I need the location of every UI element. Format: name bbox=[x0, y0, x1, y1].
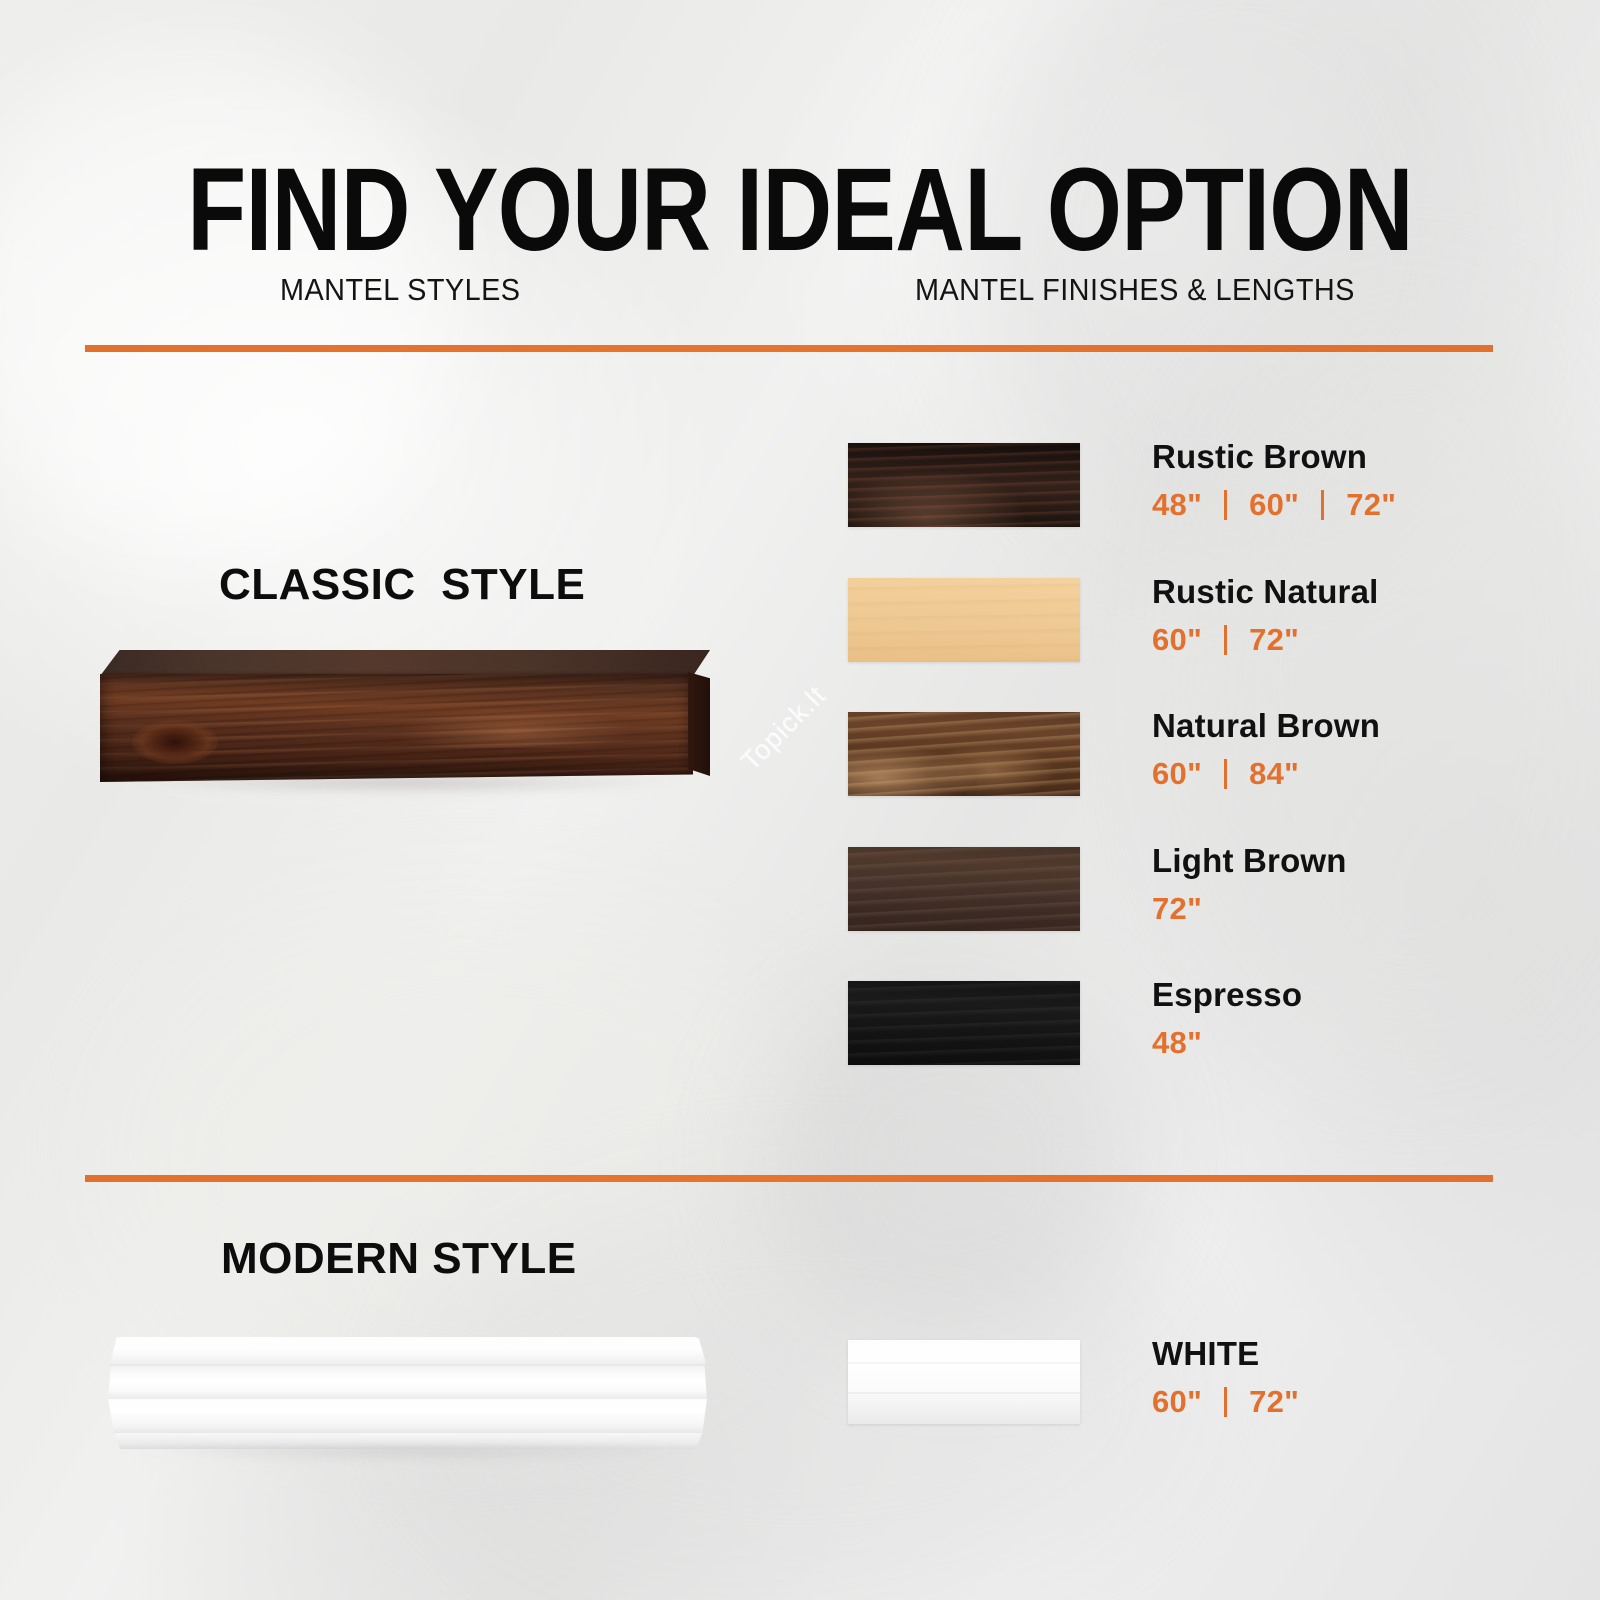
size-option[interactable]: 60" bbox=[1152, 622, 1202, 658]
finish-sizes: 60" 72" bbox=[1152, 622, 1492, 658]
molding-band-top bbox=[107, 1337, 707, 1367]
beam-end-cap bbox=[688, 672, 710, 776]
finish-row[interactable]: Light Brown 72" bbox=[848, 847, 1488, 951]
finish-name: Rustic Natural bbox=[1152, 574, 1492, 610]
product-shadow bbox=[137, 1447, 677, 1461]
finish-name: Natural Brown bbox=[1152, 708, 1492, 744]
divider-top bbox=[85, 345, 1493, 352]
swatch-texture bbox=[848, 981, 1080, 1065]
swatch-texture bbox=[848, 578, 1080, 662]
beam-front-face bbox=[100, 674, 693, 782]
finish-swatch-rustic-brown[interactable] bbox=[848, 443, 1080, 527]
size-separator bbox=[1224, 759, 1227, 789]
wood-knot bbox=[132, 720, 218, 764]
size-option[interactable]: 72" bbox=[1249, 1384, 1299, 1420]
size-separator bbox=[1224, 490, 1227, 520]
finish-details: Rustic Brown 48" 60" 72" bbox=[1152, 439, 1492, 523]
finish-name: WHITE bbox=[1152, 1336, 1492, 1372]
beam-top-face bbox=[100, 650, 710, 676]
finish-swatch-natural-brown[interactable] bbox=[848, 712, 1080, 796]
finish-sizes: 60" 84" bbox=[1152, 756, 1492, 792]
finish-details: Light Brown 72" bbox=[1152, 843, 1492, 927]
size-option[interactable]: 60" bbox=[1152, 756, 1202, 792]
finish-swatch-white[interactable] bbox=[848, 1340, 1080, 1424]
divider-middle bbox=[85, 1175, 1493, 1182]
size-separator bbox=[1321, 490, 1324, 520]
finish-details: Natural Brown 60" 84" bbox=[1152, 708, 1492, 792]
finish-sizes: 72" bbox=[1152, 891, 1492, 927]
finish-swatch-light-brown[interactable] bbox=[848, 847, 1080, 931]
page-title: FIND YOUR IDEAL OPTION bbox=[144, 151, 1456, 269]
column-headers: MANTEL STYLES MANTEL FINISHES & LENGTHS bbox=[85, 272, 1515, 320]
swatch-texture bbox=[848, 847, 1080, 931]
molding-band-middle bbox=[107, 1366, 707, 1400]
finish-row[interactable]: Espresso 48" bbox=[848, 981, 1488, 1085]
finish-row[interactable]: WHITE 60" 72" bbox=[848, 1340, 1488, 1444]
size-separator bbox=[1224, 625, 1227, 655]
finish-name: Light Brown bbox=[1152, 843, 1492, 879]
finish-swatch-espresso[interactable] bbox=[848, 981, 1080, 1065]
finish-row[interactable]: Rustic Natural 60" 72" bbox=[848, 578, 1488, 682]
finish-details: Rustic Natural 60" 72" bbox=[1152, 574, 1492, 658]
finish-row[interactable]: Rustic Brown 48" 60" 72" bbox=[848, 443, 1488, 547]
size-separator bbox=[1224, 1387, 1227, 1417]
size-option[interactable]: 72" bbox=[1346, 487, 1396, 523]
finish-name: Rustic Brown bbox=[1152, 439, 1492, 475]
size-option[interactable]: 60" bbox=[1152, 1384, 1202, 1420]
section-title-modern: MODERN STYLE bbox=[221, 1234, 577, 1284]
swatch-texture bbox=[848, 443, 1080, 527]
product-shadow bbox=[126, 778, 686, 794]
product-image-classic-mantel bbox=[100, 650, 710, 782]
swatch-texture bbox=[848, 712, 1080, 796]
finish-name: Espresso bbox=[1152, 977, 1492, 1013]
size-option[interactable]: 48" bbox=[1152, 1025, 1202, 1061]
infographic-page: FIND YOUR IDEAL OPTION MANTEL STYLES MAN… bbox=[0, 0, 1600, 1600]
size-option[interactable]: 84" bbox=[1249, 756, 1299, 792]
finish-details: Espresso 48" bbox=[1152, 977, 1492, 1061]
watermark: Topick.lt bbox=[735, 680, 832, 777]
finish-sizes: 60" 72" bbox=[1152, 1384, 1492, 1420]
molding-band-lower bbox=[107, 1399, 707, 1435]
finish-sizes: 48" 60" 72" bbox=[1152, 487, 1492, 523]
product-image-modern-mantel bbox=[107, 1333, 707, 1455]
size-option[interactable]: 72" bbox=[1249, 622, 1299, 658]
finish-details: WHITE 60" 72" bbox=[1152, 1336, 1492, 1420]
size-option[interactable]: 72" bbox=[1152, 891, 1202, 927]
size-option[interactable]: 48" bbox=[1152, 487, 1202, 523]
size-option[interactable]: 60" bbox=[1249, 487, 1299, 523]
column-header-mantel-finishes: MANTEL FINISHES & LENGTHS bbox=[915, 272, 1355, 308]
wood-grain bbox=[400, 708, 630, 748]
finish-swatch-rustic-natural[interactable] bbox=[848, 578, 1080, 662]
section-title-classic: CLASSIC STYLE bbox=[219, 560, 585, 610]
finish-row[interactable]: Natural Brown 60" 84" bbox=[848, 712, 1488, 816]
column-header-mantel-styles: MANTEL STYLES bbox=[280, 272, 520, 308]
finish-sizes: 48" bbox=[1152, 1025, 1492, 1061]
swatch-texture bbox=[848, 1340, 1080, 1424]
